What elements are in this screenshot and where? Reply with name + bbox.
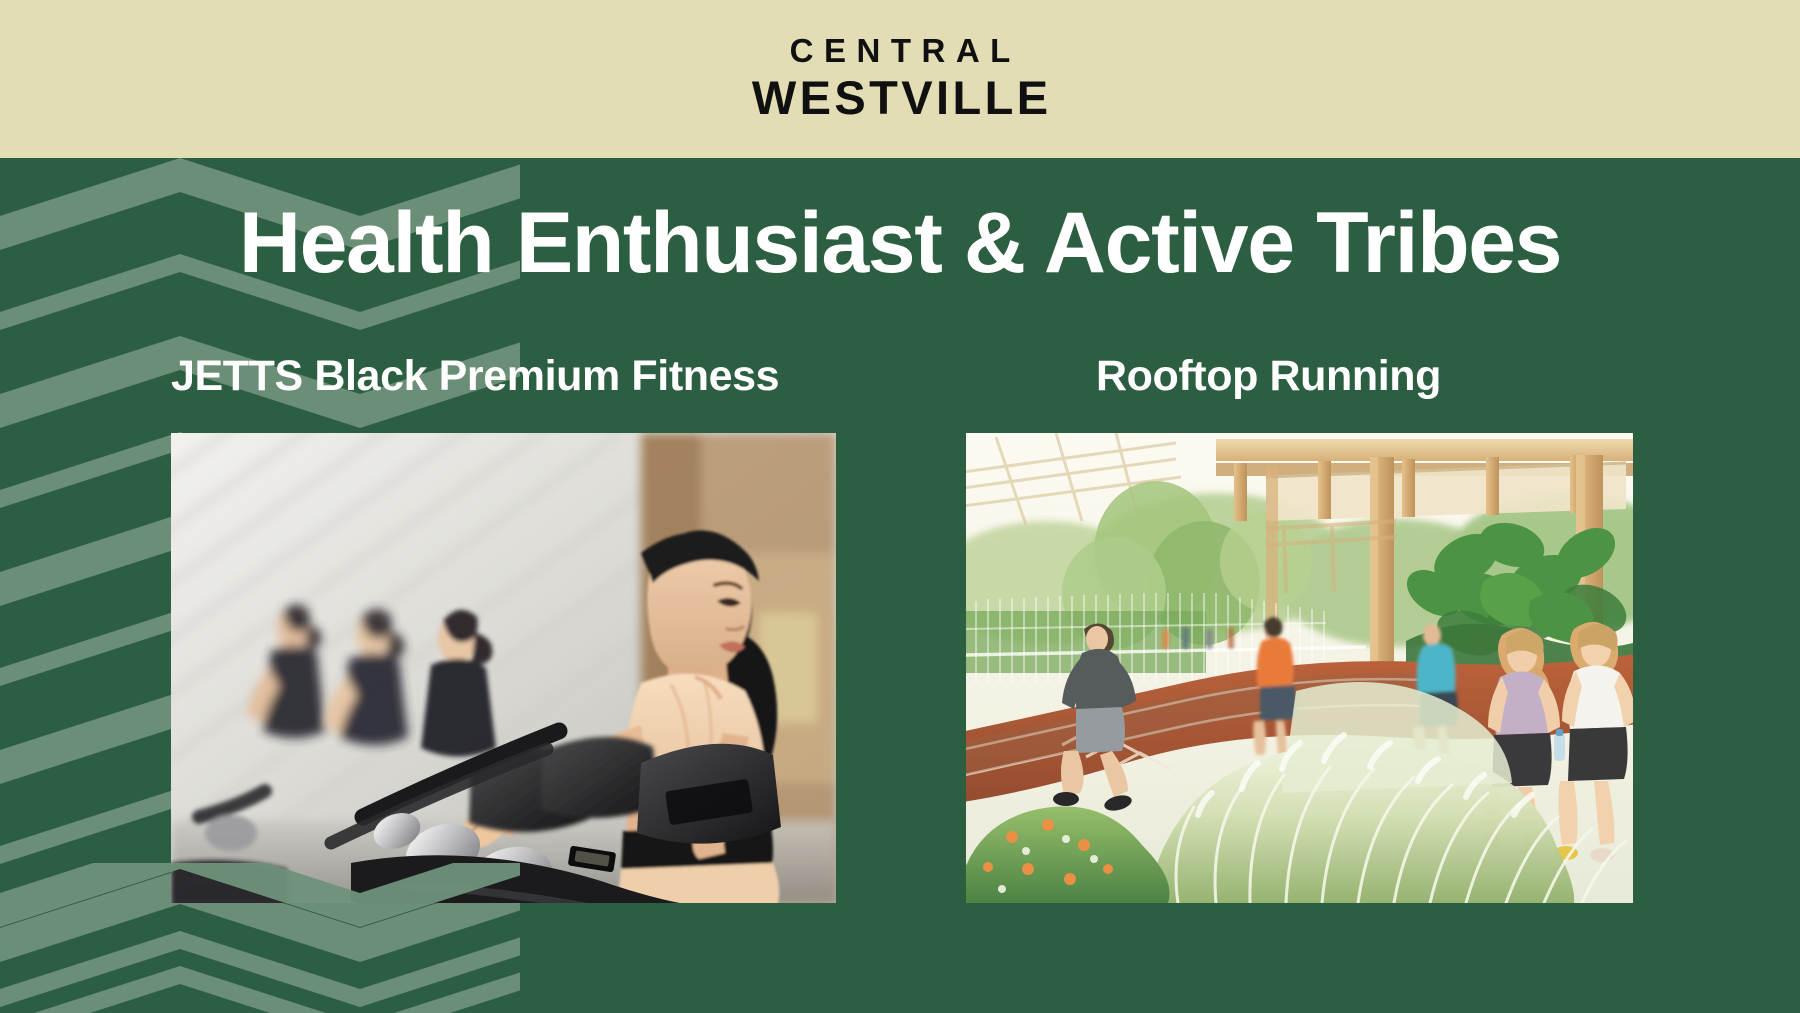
panel-caption-rooftop: Rooftop Running — [1096, 355, 1441, 398]
slide-root: CENTRAL WESTVILLE Health Enthusiast & Ac… — [0, 0, 1800, 1013]
brand-logo-line-1: CENTRAL — [779, 34, 1021, 67]
gym-cardio-machines-photo — [171, 433, 836, 903]
rooftop-running-track-render — [966, 433, 1633, 903]
brand-logo: CENTRAL WESTVILLE — [749, 34, 1052, 121]
brand-logo-line-2: WESTVILLE — [749, 74, 1052, 121]
panel-caption-jetts: JETTS Black Premium Fitness — [171, 355, 779, 398]
header-band: CENTRAL WESTVILLE — [0, 0, 1800, 158]
page-title: Health Enthusiast & Active Tribes — [0, 198, 1800, 288]
